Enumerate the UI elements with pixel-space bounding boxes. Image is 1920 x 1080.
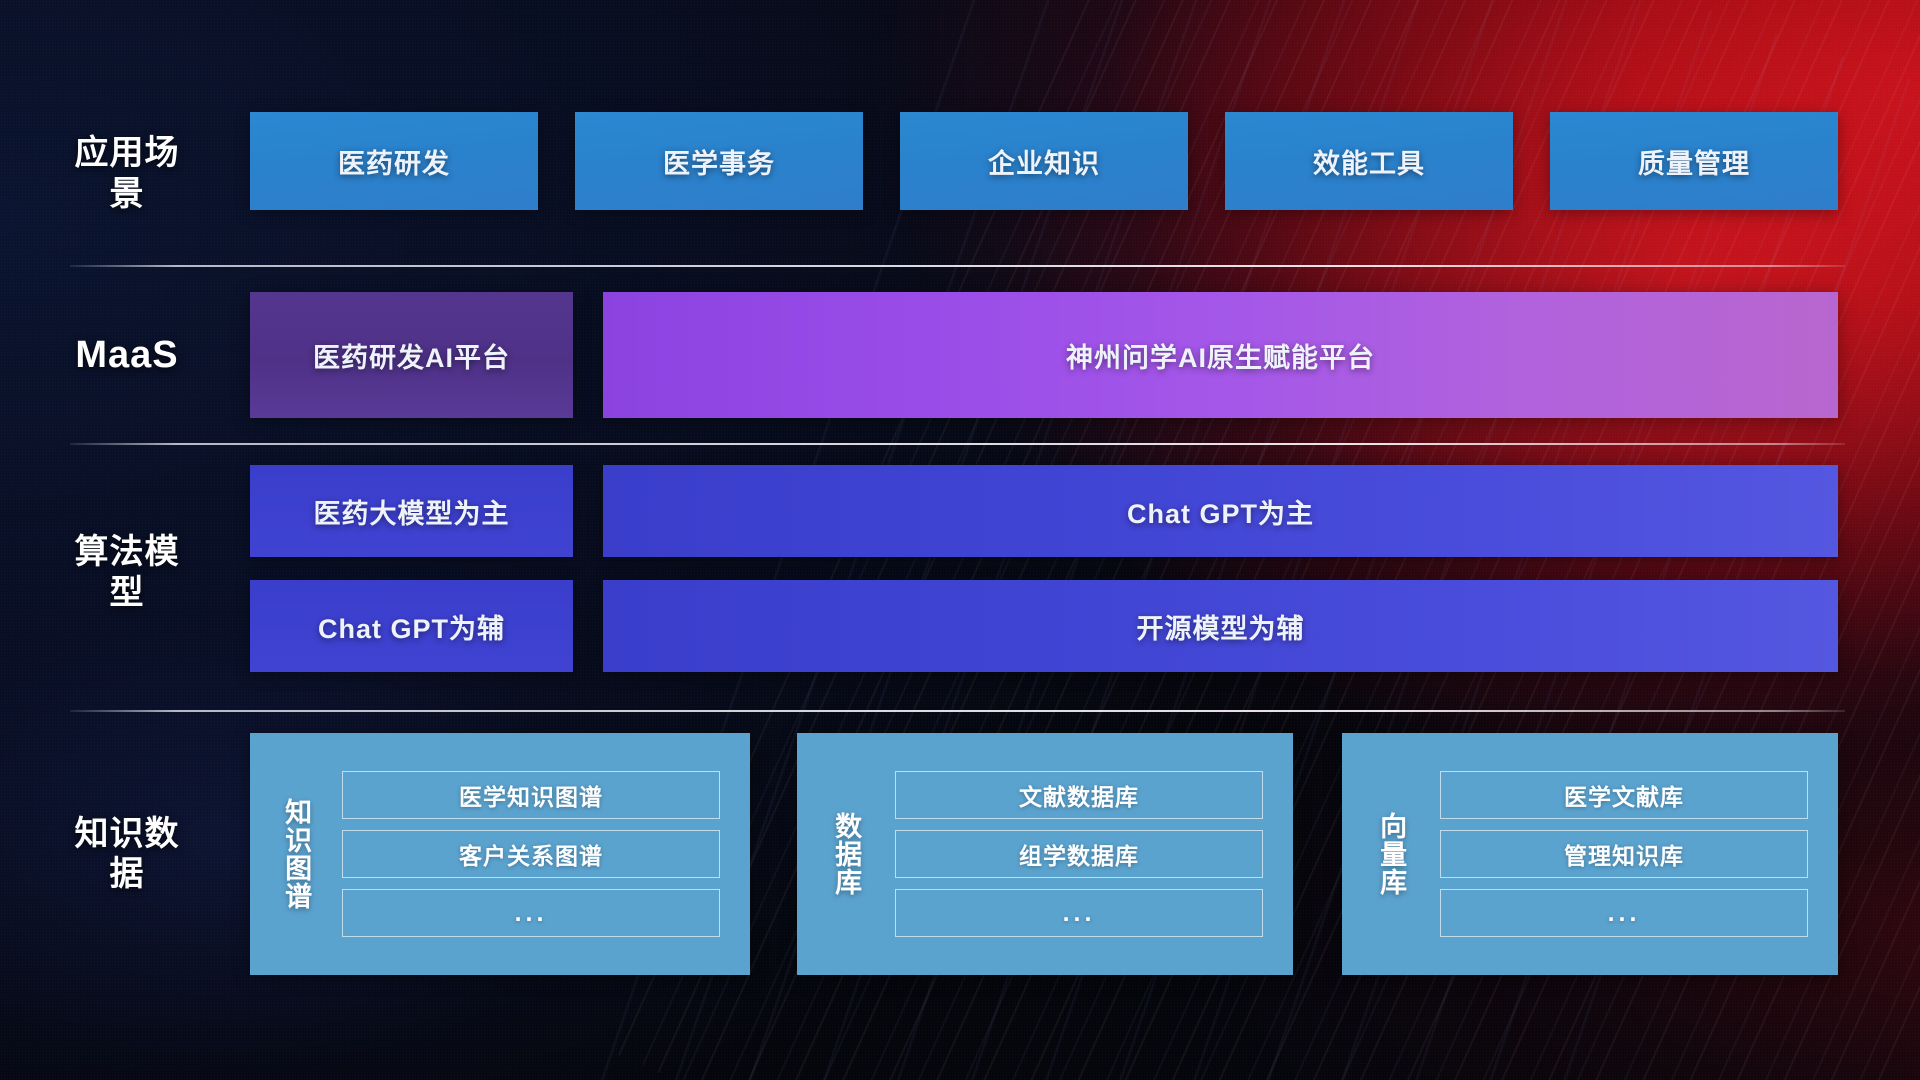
divider-after-application-row — [70, 265, 1845, 267]
row-label-text: 应用场景 — [62, 133, 192, 213]
knowledge-item[interactable]: 组学数据库 — [895, 830, 1263, 878]
knowledge-group-label-text: 向量库 — [1376, 812, 1406, 896]
knowledge-item-label: 文献数据库 — [1019, 778, 1139, 812]
maas-box-shenzhou-wenxue-platform[interactable]: 神州问学AI原生赋能平台 — [603, 292, 1838, 418]
algo-box-label: Chat GPT为主 — [1127, 492, 1314, 531]
knowledge-item[interactable]: 医学文献库 — [1440, 771, 1808, 819]
knowledge-item-label: ... — [515, 899, 548, 928]
knowledge-group-label: 向量库 — [1342, 733, 1440, 975]
row-label-text: 知识数据 — [62, 814, 192, 894]
knowledge-item-label: ... — [1608, 899, 1641, 928]
algo-box-open-source-secondary[interactable]: 开源模型为辅 — [603, 580, 1838, 672]
knowledge-item-list: 医学知识图谱 客户关系图谱 ... — [342, 733, 750, 975]
algo-box-chatgpt-primary[interactable]: Chat GPT为主 — [603, 465, 1838, 557]
scene-box-drug-rnd[interactable]: 医药研发 — [250, 112, 538, 210]
knowledge-item[interactable]: 医学知识图谱 — [342, 771, 720, 819]
knowledge-item-label: 管理知识库 — [1564, 837, 1684, 871]
knowledge-group-database[interactable]: 数据库 文献数据库 组学数据库 ... — [797, 733, 1293, 975]
maas-box-label: 医药研发AI平台 — [313, 336, 510, 375]
row-label-knowledge-data: 知识数据 — [62, 733, 192, 975]
knowledge-item-list: 医学文献库 管理知识库 ... — [1440, 733, 1838, 975]
knowledge-item[interactable]: 客户关系图谱 — [342, 830, 720, 878]
scene-box-medical-affairs[interactable]: 医学事务 — [575, 112, 863, 210]
maas-box-label: 神州问学AI原生赋能平台 — [1066, 336, 1375, 375]
scene-box-quality-management[interactable]: 质量管理 — [1550, 112, 1838, 210]
knowledge-group-label-text: 数据库 — [831, 812, 861, 896]
scene-box-enterprise-knowledge[interactable]: 企业知识 — [900, 112, 1188, 210]
divider-after-maas-row — [70, 443, 1845, 445]
scene-box-label: 质量管理 — [1638, 142, 1750, 181]
knowledge-item-label: 医学知识图谱 — [459, 778, 603, 812]
algo-box-label: Chat GPT为辅 — [318, 607, 505, 646]
scene-box-label: 医药研发 — [338, 142, 450, 181]
knowledge-item[interactable]: 管理知识库 — [1440, 830, 1808, 878]
knowledge-item-more[interactable]: ... — [1440, 889, 1808, 937]
knowledge-item-more[interactable]: ... — [342, 889, 720, 937]
knowledge-group-label-text: 知识图谱 — [281, 798, 311, 910]
row-label-text: 算法模型 — [62, 532, 192, 612]
knowledge-item-label: 客户关系图谱 — [459, 837, 603, 871]
algo-box-label: 医药大模型为主 — [314, 492, 510, 531]
algo-box-chatgpt-secondary[interactable]: Chat GPT为辅 — [250, 580, 573, 672]
knowledge-item-label: 组学数据库 — [1019, 837, 1139, 871]
scene-box-label: 效能工具 — [1313, 142, 1425, 181]
row-label-algorithm-model: 算法模型 — [62, 465, 192, 680]
scene-box-efficiency-tools[interactable]: 效能工具 — [1225, 112, 1513, 210]
knowledge-group-knowledge-graph[interactable]: 知识图谱 医学知识图谱 客户关系图谱 ... — [250, 733, 750, 975]
architecture-diagram: 应用场景 医药研发 医学事务 企业知识 效能工具 质量管理 MaaS 医药研发A… — [0, 0, 1920, 1080]
knowledge-group-label: 知识图谱 — [250, 733, 342, 975]
scene-box-label: 企业知识 — [988, 142, 1100, 181]
knowledge-group-label: 数据库 — [797, 733, 895, 975]
maas-box-drug-rnd-ai-platform[interactable]: 医药研发AI平台 — [250, 292, 573, 418]
knowledge-item[interactable]: 文献数据库 — [895, 771, 1263, 819]
knowledge-item-more[interactable]: ... — [895, 889, 1263, 937]
algo-box-drug-large-model-primary[interactable]: 医药大模型为主 — [250, 465, 573, 557]
row-label-maas: MaaS — [62, 290, 192, 420]
knowledge-group-vector-store[interactable]: 向量库 医学文献库 管理知识库 ... — [1342, 733, 1838, 975]
knowledge-item-label: ... — [1063, 899, 1096, 928]
knowledge-item-list: 文献数据库 组学数据库 ... — [895, 733, 1293, 975]
row-label-application-scenarios: 应用场景 — [62, 112, 192, 235]
divider-after-algorithm-row — [70, 710, 1845, 712]
scene-box-label: 医学事务 — [663, 142, 775, 181]
knowledge-item-label: 医学文献库 — [1564, 778, 1684, 812]
row-label-text: MaaS — [75, 333, 178, 378]
algo-box-label: 开源模型为辅 — [1137, 607, 1305, 646]
diagram-content: 应用场景 医药研发 医学事务 企业知识 效能工具 质量管理 MaaS 医药研发A… — [0, 0, 1920, 1080]
